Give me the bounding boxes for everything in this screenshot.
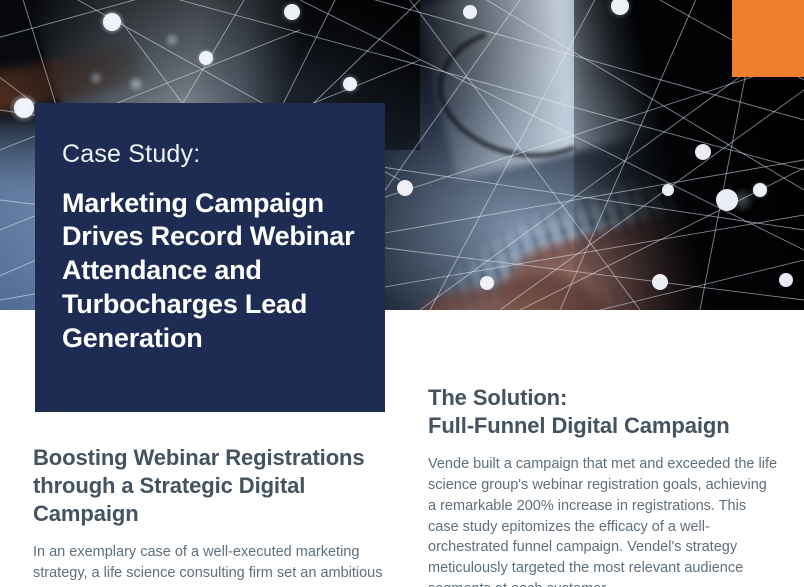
right-column-heading-line2: Full-Funnel Digital Campaign [428,413,730,438]
orange-accent-block [732,0,804,77]
left-column-paragraph: In an exemplary case of a well-executed … [33,542,385,587]
right-column-paragraph: Vende built a campaign that met and exce… [428,454,778,587]
page-title: Marketing Campaign Drives Record Webinar… [62,187,361,356]
left-column-heading: Boosting Webinar Registrations through a… [33,444,385,528]
right-column-heading-line1: The Solution: [428,385,567,410]
right-column-heading: The Solution: Full-Funnel Digital Campai… [428,384,778,440]
left-column: Boosting Webinar Registrations through a… [33,444,385,587]
eyebrow-label: Case Study: [62,141,361,169]
title-card: Case Study: Marketing Campaign Drives Re… [35,103,385,412]
right-column: The Solution: Full-Funnel Digital Campai… [428,384,778,587]
page-canvas: Case Study: Marketing Campaign Drives Re… [0,0,804,587]
